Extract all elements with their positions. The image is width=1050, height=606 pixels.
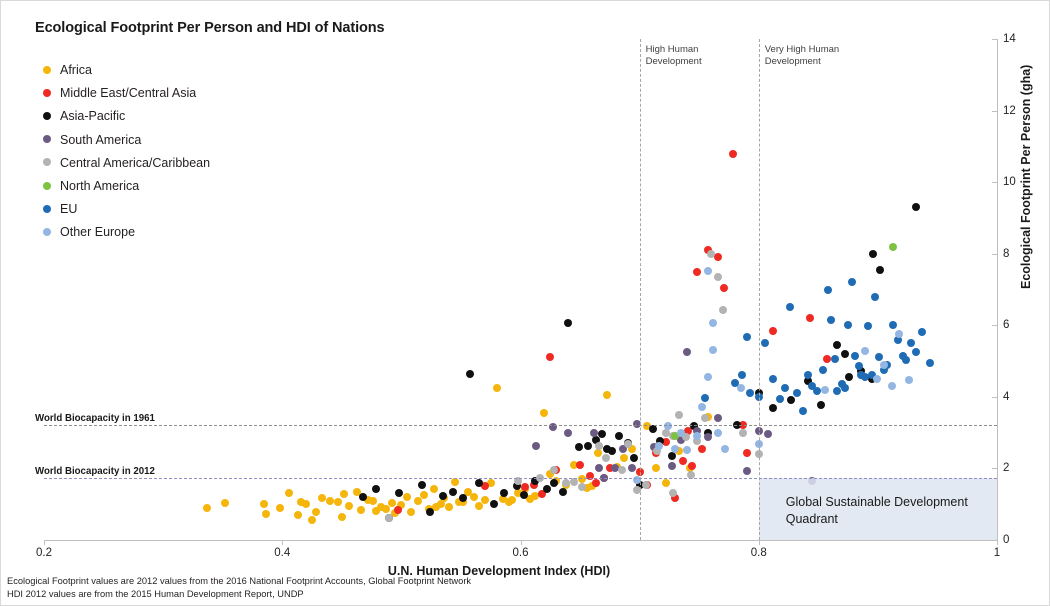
data-point: [693, 268, 701, 276]
data-point: [781, 384, 789, 392]
chart-canvas: Ecological Footprint Per Person and HDI …: [0, 0, 1050, 606]
data-point: [564, 429, 572, 437]
data-point: [769, 404, 777, 412]
data-point: [451, 478, 459, 486]
data-point: [793, 389, 801, 397]
data-point: [918, 328, 926, 336]
data-point: [420, 491, 428, 499]
very-high-human-development-label-line1: Very High Human: [765, 44, 839, 56]
footnote-line: Ecological Footprint values are 2012 val…: [7, 575, 471, 588]
data-point: [576, 461, 584, 469]
data-point: [550, 479, 558, 487]
data-point: [769, 375, 777, 383]
high-human-development-label: High HumanDevelopment: [646, 44, 702, 67]
data-point: [357, 506, 365, 514]
data-point: [285, 489, 293, 497]
x-axis-tick-label: 1: [994, 547, 1000, 559]
y-axis-title: Ecological Footprint Per Person (gha): [1019, 65, 1033, 289]
data-point: [655, 442, 663, 450]
data-point: [418, 481, 426, 489]
data-point: [394, 506, 402, 514]
very-high-human-development-label: Very High HumanDevelopment: [765, 44, 839, 67]
x-axis-tick-label: 0.4: [274, 547, 290, 559]
data-point: [543, 485, 551, 493]
quadrant-label-line1: Global Sustainable Development: [786, 494, 968, 511]
data-point: [385, 514, 393, 522]
data-point: [902, 356, 910, 364]
data-point: [345, 502, 353, 510]
y-axis-tick: [992, 111, 997, 112]
data-point: [203, 504, 211, 512]
data-point: [668, 462, 676, 470]
data-point: [475, 479, 483, 487]
data-point: [873, 375, 881, 383]
data-point: [326, 497, 334, 505]
data-point: [714, 273, 722, 281]
data-point: [592, 479, 600, 487]
data-point: [876, 266, 884, 274]
data-point: [786, 303, 794, 311]
high-human-development-label-line1: High Human: [646, 44, 702, 56]
x-axis-tick: [282, 540, 283, 545]
data-point: [679, 457, 687, 465]
data-point: [698, 445, 706, 453]
footnotes: Ecological Footprint values are 2012 val…: [7, 575, 471, 600]
data-point: [683, 348, 691, 356]
data-point: [564, 319, 572, 327]
data-point: [871, 293, 879, 301]
data-point: [701, 414, 709, 422]
data-point: [312, 508, 320, 516]
data-point: [618, 466, 626, 474]
data-point: [520, 491, 528, 499]
data-point: [550, 466, 558, 474]
data-point: [709, 319, 717, 327]
data-point: [620, 454, 628, 462]
data-point: [799, 407, 807, 415]
data-point: [804, 371, 812, 379]
data-point: [926, 359, 934, 367]
data-point: [743, 333, 751, 341]
x-axis-tick: [521, 540, 522, 545]
data-point: [602, 454, 610, 462]
data-point: [369, 497, 377, 505]
high-human-development-line: [640, 39, 641, 540]
data-point: [776, 395, 784, 403]
data-point: [880, 361, 888, 369]
data-point: [707, 250, 715, 258]
quadrant-label-line2: Quadrant: [786, 511, 968, 528]
data-point: [823, 355, 831, 363]
data-point: [827, 316, 835, 324]
data-point: [294, 511, 302, 519]
data-point: [570, 478, 578, 486]
y-axis-tick-label: 0: [1003, 534, 1009, 546]
data-point: [889, 321, 897, 329]
data-point: [831, 355, 839, 363]
page-title: Ecological Footprint Per Person and HDI …: [35, 20, 384, 36]
y-axis-tick-label: 12: [1003, 105, 1016, 117]
data-point: [719, 306, 727, 314]
data-point: [824, 286, 832, 294]
data-point: [340, 490, 348, 498]
data-point: [426, 508, 434, 516]
y-axis-line: [997, 39, 998, 540]
data-point: [584, 442, 592, 450]
data-point: [787, 396, 795, 404]
data-point: [737, 384, 745, 392]
data-point: [481, 496, 489, 504]
data-point: [308, 516, 316, 524]
data-point: [302, 500, 310, 508]
data-point: [500, 489, 508, 497]
y-axis-tick-label: 4: [1003, 391, 1009, 403]
data-point: [895, 330, 903, 338]
data-point: [276, 504, 284, 512]
data-point: [260, 500, 268, 508]
data-point: [407, 508, 415, 516]
data-point: [864, 322, 872, 330]
x-axis-tick-label: 0.6: [513, 547, 529, 559]
data-point: [888, 382, 896, 390]
data-point: [624, 440, 632, 448]
data-point: [889, 243, 897, 251]
data-point: [704, 433, 712, 441]
data-point: [598, 430, 606, 438]
data-point: [675, 411, 683, 419]
y-axis-tick-label: 14: [1003, 33, 1016, 45]
data-point: [395, 489, 403, 497]
data-point: [806, 314, 814, 322]
data-point: [912, 348, 920, 356]
data-point: [769, 327, 777, 335]
very-high-human-development-line: [759, 39, 760, 540]
data-point: [546, 353, 554, 361]
data-point: [714, 414, 722, 422]
world-biocapacity-2012-label: World Biocapacity in 2012: [35, 466, 155, 477]
data-point: [905, 376, 913, 384]
data-point: [869, 250, 877, 258]
y-axis-tick-label: 6: [1003, 319, 1009, 331]
data-point: [845, 373, 853, 381]
data-point: [608, 447, 616, 455]
y-axis-tick: [992, 182, 997, 183]
data-point: [746, 389, 754, 397]
data-point: [508, 496, 516, 504]
high-human-development-label-line2: Development: [646, 56, 702, 68]
x-axis-tick: [44, 540, 45, 545]
y-axis-tick: [992, 254, 997, 255]
data-point: [449, 488, 457, 496]
data-point: [595, 442, 603, 450]
data-point: [729, 150, 737, 158]
data-point: [714, 253, 722, 261]
data-point: [761, 339, 769, 347]
data-point: [603, 391, 611, 399]
data-point: [739, 429, 747, 437]
data-point: [594, 449, 602, 457]
data-point: [490, 500, 498, 508]
footnote-line: HDI 2012 values are from the 2015 Human …: [7, 588, 471, 601]
data-point: [844, 321, 852, 329]
data-point: [532, 442, 540, 450]
very-high-human-development-label-line2: Development: [765, 56, 839, 68]
data-point: [817, 401, 825, 409]
data-point: [318, 494, 326, 502]
data-point: [743, 467, 751, 475]
data-point: [704, 373, 712, 381]
data-point: [382, 505, 390, 513]
data-point: [540, 409, 548, 417]
data-point: [334, 498, 342, 506]
data-point: [720, 284, 728, 292]
y-axis-tick: [992, 540, 997, 541]
data-point: [662, 479, 670, 487]
data-point: [221, 499, 229, 507]
x-axis-tick-label: 0.8: [751, 547, 767, 559]
world-biocapacity-1961-label: World Biocapacity in 1961: [35, 413, 155, 424]
y-axis-tick: [992, 39, 997, 40]
data-point: [701, 394, 709, 402]
data-point: [262, 510, 270, 518]
data-point: [338, 513, 346, 521]
data-point: [466, 370, 474, 378]
data-point: [851, 352, 859, 360]
y-axis-tick-label: 2: [1003, 462, 1009, 474]
data-point: [912, 203, 920, 211]
data-point: [595, 464, 603, 472]
data-point: [630, 454, 638, 462]
data-point: [698, 403, 706, 411]
y-axis-tick: [992, 397, 997, 398]
data-point: [615, 432, 623, 440]
data-point: [668, 452, 676, 460]
data-point: [861, 347, 869, 355]
y-axis-tick: [992, 468, 997, 469]
data-point: [575, 443, 583, 451]
data-point: [709, 346, 717, 354]
data-point: [559, 488, 567, 496]
data-point: [403, 493, 411, 501]
x-axis-tick-label: 0.2: [36, 547, 52, 559]
data-point: [833, 341, 841, 349]
data-point: [721, 445, 729, 453]
x-axis-tick: [997, 540, 998, 545]
world-biocapacity-1961-line: [44, 425, 997, 426]
data-point: [813, 387, 821, 395]
data-point: [430, 485, 438, 493]
data-point: [764, 430, 772, 438]
x-axis-tick: [759, 540, 760, 545]
data-point: [549, 423, 557, 431]
data-point: [738, 371, 746, 379]
data-point: [693, 432, 701, 440]
data-point: [819, 366, 827, 374]
world-biocapacity-2012-line: [44, 478, 997, 479]
plot-area: [44, 39, 997, 540]
data-point: [821, 386, 829, 394]
quadrant-label: Global Sustainable DevelopmentQuadrant: [786, 494, 968, 528]
data-point: [372, 485, 380, 493]
data-point: [907, 339, 915, 347]
data-point: [714, 429, 722, 437]
data-point: [848, 278, 856, 286]
data-point: [652, 464, 660, 472]
data-point: [688, 462, 696, 470]
data-point: [704, 267, 712, 275]
y-axis-tick: [992, 325, 997, 326]
data-point: [683, 446, 691, 454]
data-point: [493, 384, 501, 392]
data-point: [841, 350, 849, 358]
data-point: [470, 493, 478, 501]
data-point: [445, 503, 453, 511]
data-point: [841, 384, 849, 392]
y-axis-tick-label: 8: [1003, 248, 1009, 260]
y-axis-tick-label: 10: [1003, 176, 1016, 188]
data-point: [642, 481, 650, 489]
data-point: [743, 449, 751, 457]
